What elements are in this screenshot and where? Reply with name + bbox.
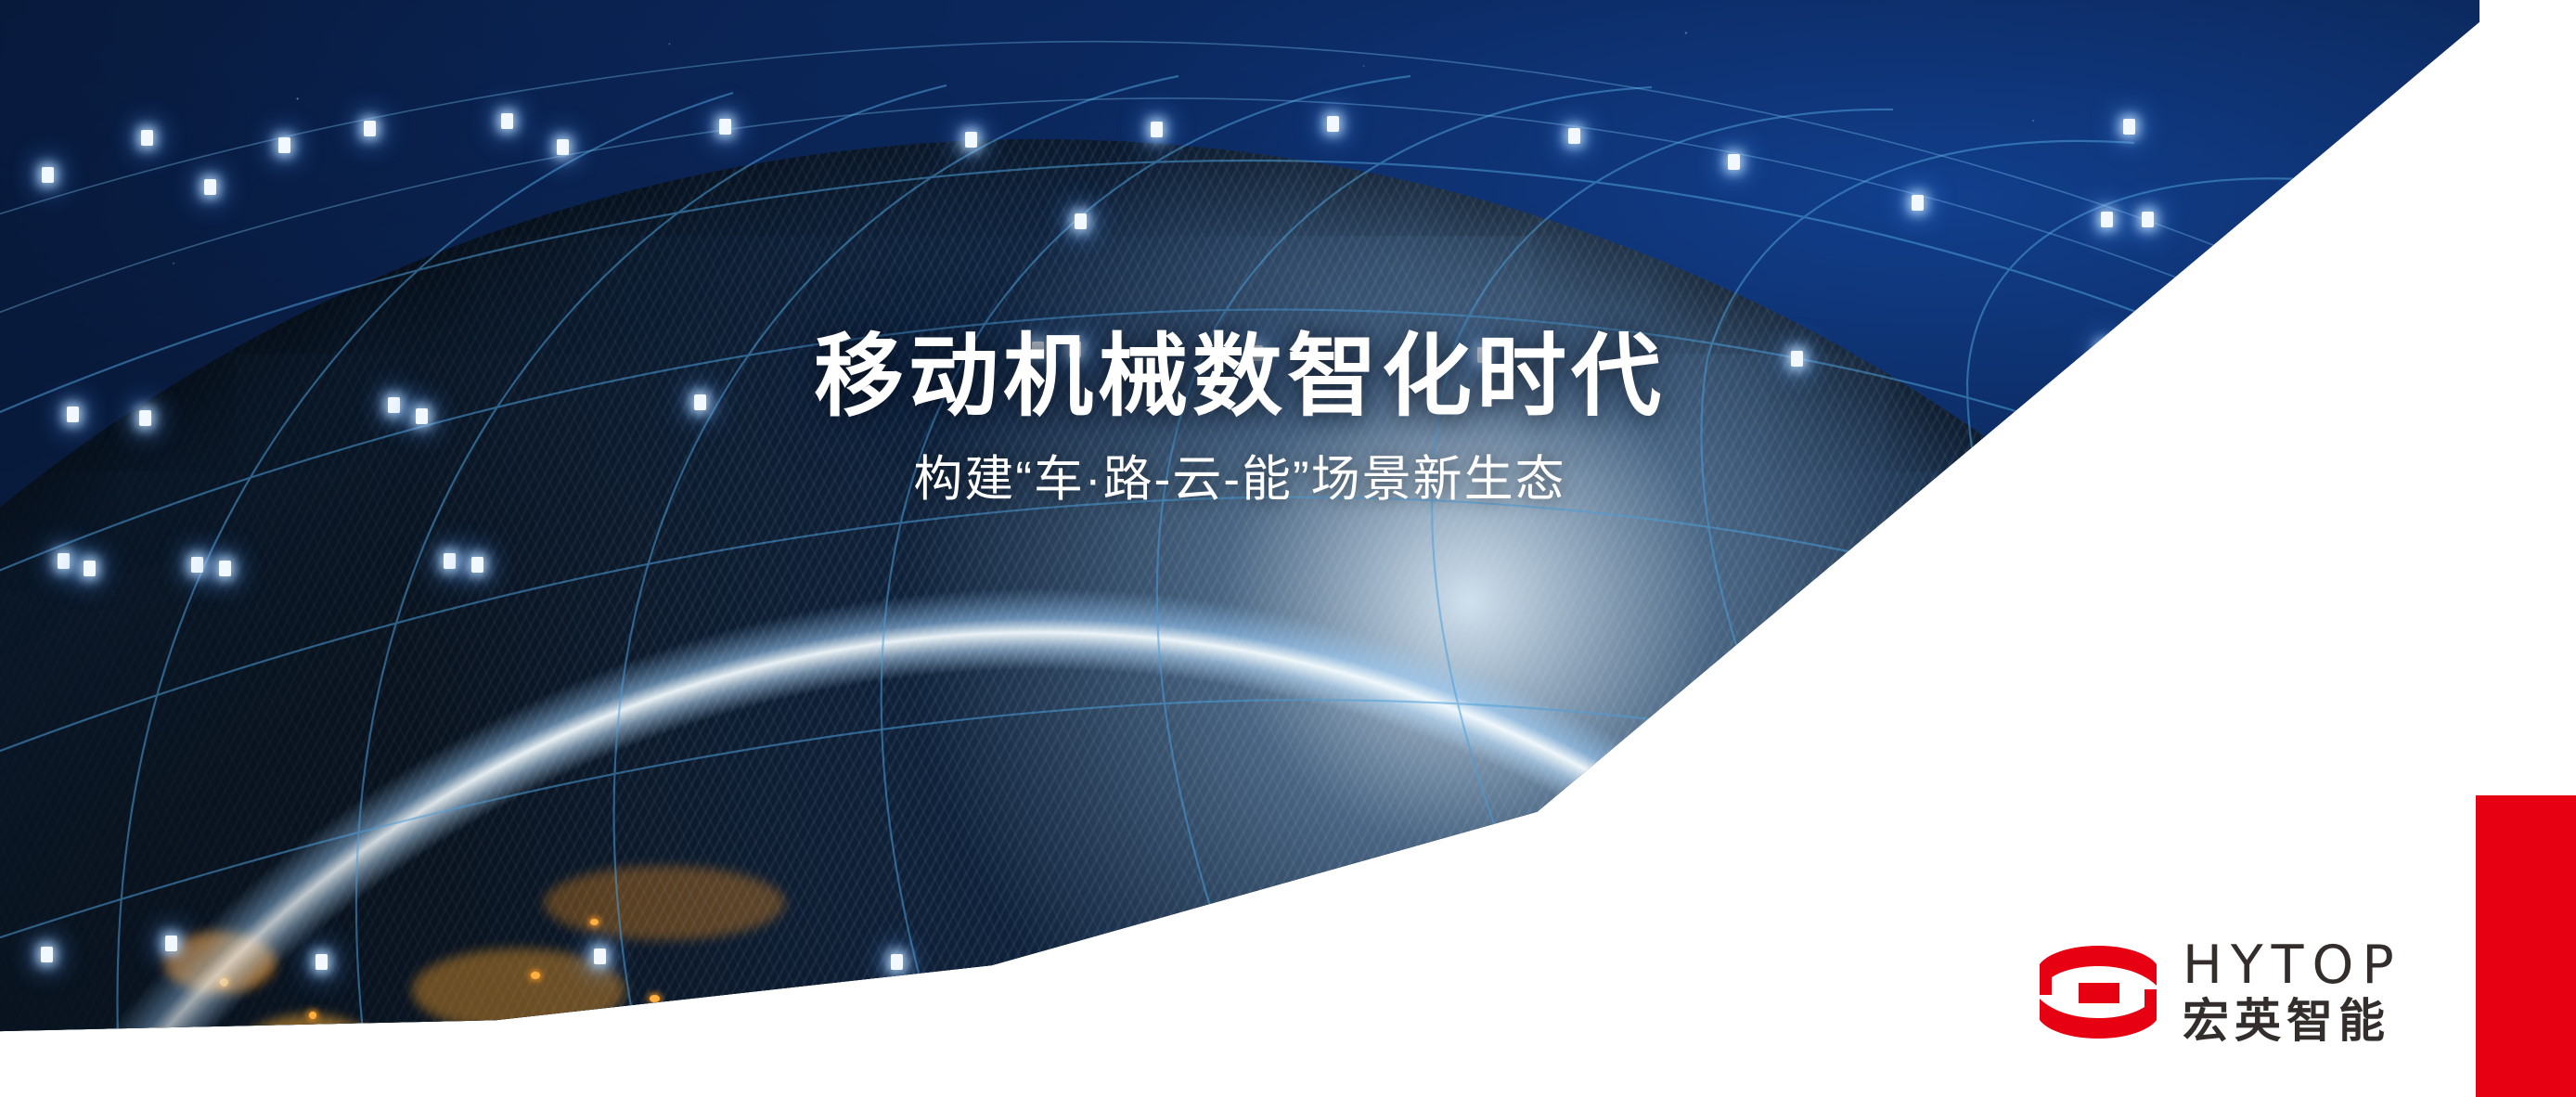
title-block: 移动机械数智化时代 构建“车·路-云-能”场景新生态 bbox=[0, 327, 2479, 509]
brand-logo[interactable]: HYTOP 宏英智能 bbox=[2040, 939, 2402, 1044]
logo-chinese-name: 宏英智能 bbox=[2183, 998, 2402, 1044]
hytop-g-mark-icon bbox=[2040, 940, 2157, 1044]
page-subtitle: 构建“车·路-云-能”场景新生态 bbox=[0, 450, 2479, 510]
red-accent-bar bbox=[2476, 795, 2576, 1097]
page-title: 移动机械数智化时代 bbox=[0, 327, 2479, 428]
title-slide: 移动机械数智化时代 构建“车·路-云-能”场景新生态 HYTOP 宏英智能 bbox=[0, 0, 2576, 1097]
logo-english-name: HYTOP bbox=[2183, 939, 2402, 992]
logo-wordmark: HYTOP 宏英智能 bbox=[2183, 939, 2402, 1044]
